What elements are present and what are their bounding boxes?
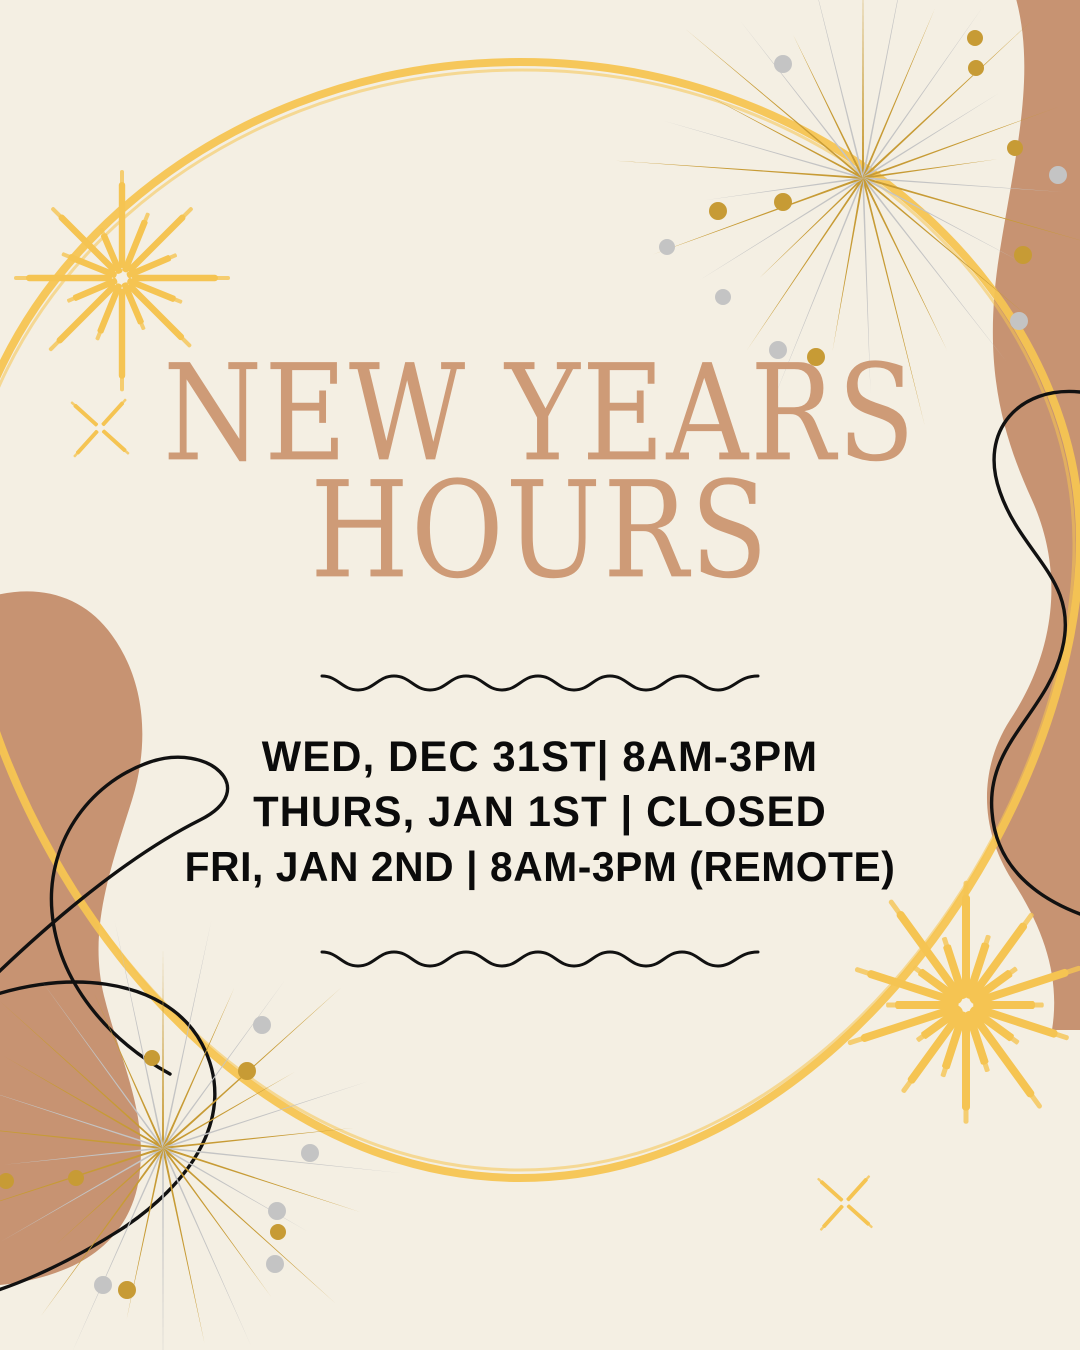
- title-line-two: Hours: [22, 469, 1059, 592]
- hours-line-thursday: Thurs, Jan 1st | Closed: [16, 785, 1064, 840]
- title-line-one: New Years: [22, 352, 1059, 475]
- hours-line-friday: Fri, Jan 2nd | 8AM-3PM (Remote): [16, 840, 1064, 894]
- poster-canvas: New Years Hours Wed, Dec 31st| 8AM-3PM T…: [0, 0, 1080, 1350]
- poster-content: New Years Hours Wed, Dec 31st| 8AM-3PM T…: [0, 0, 1080, 1350]
- hours-list: Wed, Dec 31st| 8AM-3PM Thurs, Jan 1st | …: [0, 730, 1080, 894]
- wavy-divider-top: [318, 656, 762, 702]
- page-title: New Years Hours: [0, 352, 1080, 577]
- hours-line-wednesday: Wed, Dec 31st| 8AM-3PM: [16, 730, 1064, 785]
- wavy-divider-bottom: [318, 932, 762, 978]
